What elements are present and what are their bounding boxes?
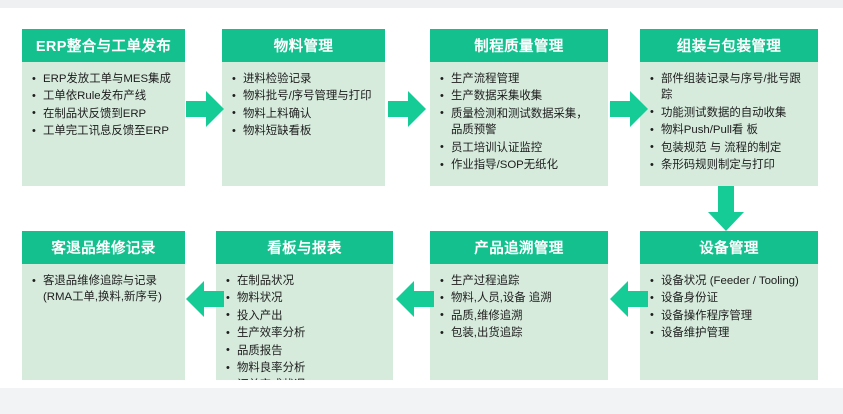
list-item: 物料短缺看板 [232,123,377,139]
top-background-strip [0,0,843,8]
process-card-rma[interactable]: 客退品维修记录 客退品维修追踪与记录 (RMA工单,换料,新序号) [22,231,185,380]
list-item: 生产过程追踪 [440,273,600,289]
list-item: 生产流程管理 [440,71,600,87]
card-title-material: 物料管理 [222,29,385,62]
card-body-trace: 生产过程追踪 物料,人员,设备 追溯 品质,维修追溯 包装,出货追踪 [430,264,608,380]
list-item: 物料Push/Pull看 板 [650,122,810,138]
list-item: 包装,出货追踪 [440,325,600,341]
list-item: 设备身份证 [650,290,810,306]
card-title-erp: ERP整合与工单发布 [22,29,185,62]
list-item: 条形码规则制定与打印 [650,157,810,173]
list-item: 品质,维修追溯 [440,308,600,324]
arrow-down-icon [707,186,745,232]
list-item: 工单依Rule发布产线 [32,88,177,104]
list-item: 员工培训认证监控 [440,140,600,156]
list-item: 物料上料确认 [232,106,377,122]
list-item: 进料检验记录 [232,71,377,87]
card-body-equipment: 设备状况 (Feeder / Tooling) 设备身份证 设备操作程序管理 设… [640,264,818,380]
process-card-trace[interactable]: 产品追溯管理 生产过程追踪 物料,人员,设备 追溯 品质,维修追溯 包装,出货追… [430,231,608,380]
bullet-list-trace: 生产过程追踪 物料,人员,设备 追溯 品质,维修追溯 包装,出货追踪 [440,273,600,342]
bullet-list-kanban: 在制品状况 物料状况 投入产出 生产效率分析 品质报告 物料良率分析 订单完成状… [226,273,385,380]
card-title-rma: 客退品维修记录 [22,231,185,264]
process-card-material[interactable]: 物料管理 进料检验记录 物料批号/序号管理与打印 物料上料确认 物料短缺看板 [222,29,385,186]
card-title-assembly: 组装与包装管理 [640,29,818,62]
list-item: ERP发放工单与MES集成 [32,71,177,87]
list-item: 作业指导/SOP无纸化 [440,157,600,173]
card-title-kanban: 看板与报表 [216,231,393,264]
list-item: 投入产出 [226,308,385,324]
bullet-list-assembly: 部件组装记录与序号/批号跟 踪 功能测试数据的自动收集 物料Push/Pull看… [650,71,810,173]
process-card-erp[interactable]: ERP整合与工单发布 ERP发放工单与MES集成 工单依Rule发布产线 在制品… [22,29,185,186]
diagram-canvas: ERP整合与工单发布 ERP发放工单与MES集成 工单依Rule发布产线 在制品… [0,0,843,414]
list-item: 包装规范 与 流程的制定 [650,140,810,156]
arrow-left-icon [396,280,434,318]
card-body-assembly: 部件组装记录与序号/批号跟 踪 功能测试数据的自动收集 物料Push/Pull看… [640,62,818,186]
list-item: 物料,人员,设备 追溯 [440,290,600,306]
card-body-material: 进料检验记录 物料批号/序号管理与打印 物料上料确认 物料短缺看板 [222,62,385,186]
bullet-list-rma: 客退品维修追踪与记录 (RMA工单,换料,新序号) [32,273,177,306]
process-card-kanban[interactable]: 看板与报表 在制品状况 物料状况 投入产出 生产效率分析 品质报告 物料良率分析… [216,231,393,380]
bullet-list-material: 进料检验记录 物料批号/序号管理与打印 物料上料确认 物料短缺看板 [232,71,377,140]
arrow-right-icon [610,90,648,128]
list-item: 工单完工讯息反馈至ERP [32,123,177,139]
list-item: 在制品状反馈到ERP [32,106,177,122]
process-card-assembly[interactable]: 组装与包装管理 部件组装记录与序号/批号跟 踪 功能测试数据的自动收集 物料Pu… [640,29,818,186]
list-item: 生产效率分析 [226,325,385,341]
bullet-list-erp: ERP发放工单与MES集成 工单依Rule发布产线 在制品状反馈到ERP 工单完… [32,71,177,140]
list-item: 功能测试数据的自动收集 [650,105,810,121]
arrow-right-icon [388,90,426,128]
list-item: 客退品维修追踪与记录 (RMA工单,换料,新序号) [32,273,177,306]
list-item: 设备状况 (Feeder / Tooling) [650,273,810,289]
bullet-list-quality: 生产流程管理 生产数据采集收集 质量检测和测试数据采集， 品质预警 员工培训认证… [440,71,600,173]
list-item: 物料批号/序号管理与打印 [232,88,377,104]
card-body-quality: 生产流程管理 生产数据采集收集 质量检测和测试数据采集， 品质预警 员工培训认证… [430,62,608,186]
process-card-equipment[interactable]: 设备管理 设备状况 (Feeder / Tooling) 设备身份证 设备操作程… [640,231,818,380]
arrow-left-icon [610,280,648,318]
list-item: 在制品状况 [226,273,385,289]
list-item: 品质报告 [226,343,385,359]
arrow-right-icon [186,90,224,128]
card-title-equipment: 设备管理 [640,231,818,264]
list-item: 订单完成状况 [226,377,385,380]
card-body-kanban: 在制品状况 物料状况 投入产出 生产效率分析 品质报告 物料良率分析 订单完成状… [216,264,393,380]
card-body-erp: ERP发放工单与MES集成 工单依Rule发布产线 在制品状反馈到ERP 工单完… [22,62,185,186]
card-title-quality: 制程质量管理 [430,29,608,62]
list-item: 物料良率分析 [226,360,385,376]
list-item: 质量检测和测试数据采集， 品质预警 [440,106,600,139]
process-card-quality[interactable]: 制程质量管理 生产流程管理 生产数据采集收集 质量检测和测试数据采集， 品质预警… [430,29,608,186]
list-item: 设备操作程序管理 [650,308,810,324]
bullet-list-equipment: 设备状况 (Feeder / Tooling) 设备身份证 设备操作程序管理 设… [650,273,810,342]
card-title-trace: 产品追溯管理 [430,231,608,264]
slide-surface: ERP整合与工单发布 ERP发放工单与MES集成 工单依Rule发布产线 在制品… [0,8,843,388]
list-item: 物料状况 [226,290,385,306]
card-body-rma: 客退品维修追踪与记录 (RMA工单,换料,新序号) [22,264,185,380]
list-item: 部件组装记录与序号/批号跟 踪 [650,71,810,104]
arrow-left-icon [186,280,224,318]
list-item: 设备维护管理 [650,325,810,341]
list-item: 生产数据采集收集 [440,88,600,104]
